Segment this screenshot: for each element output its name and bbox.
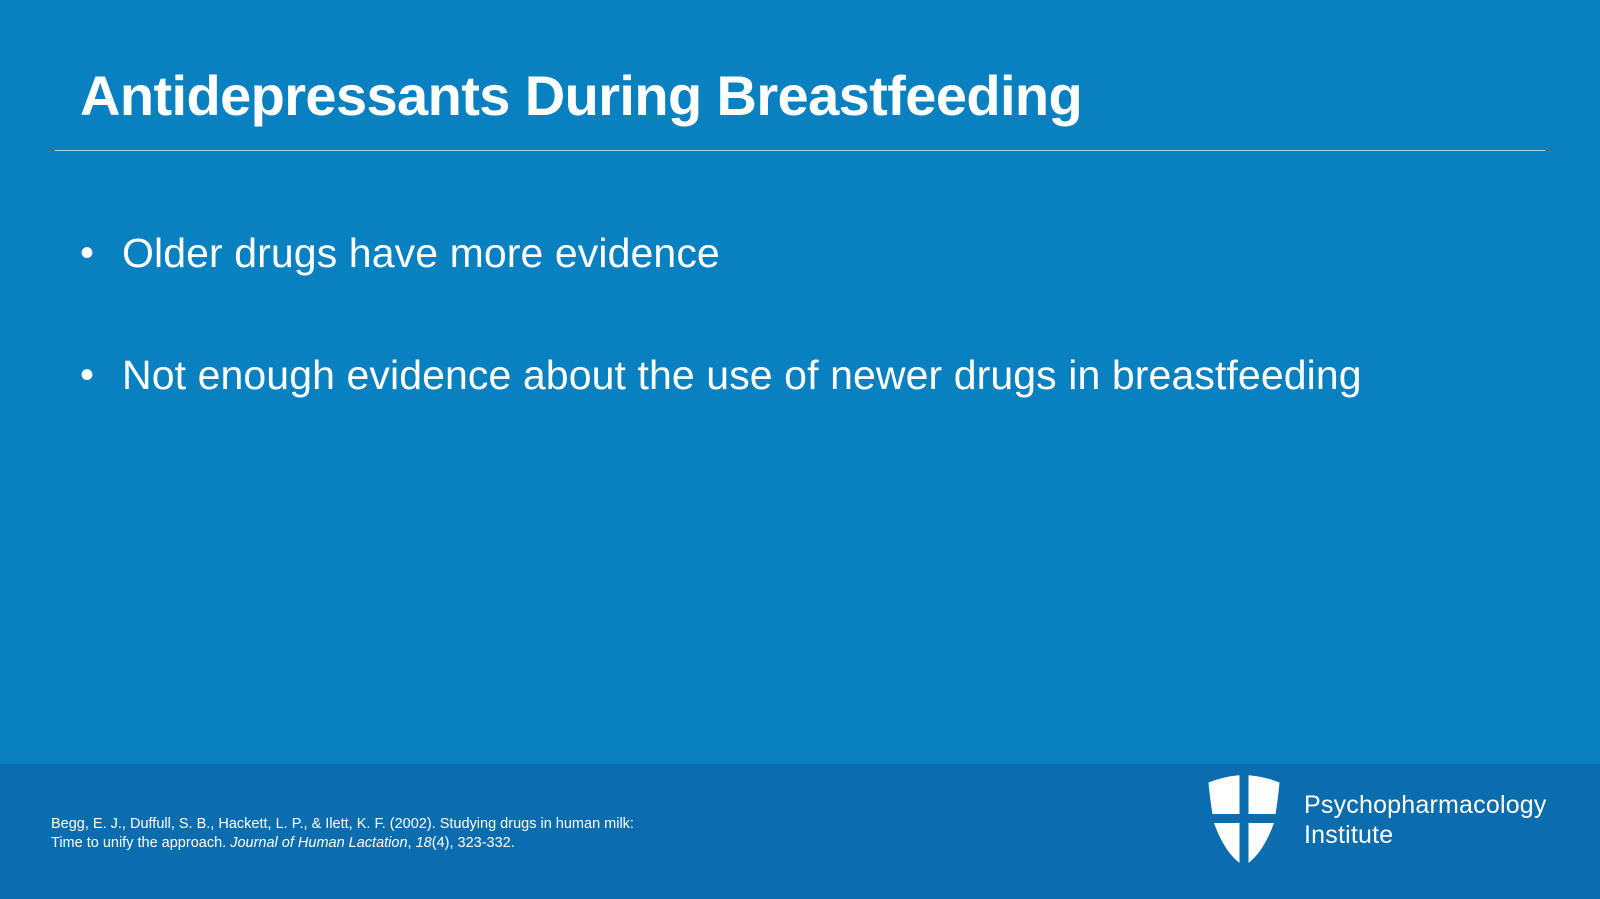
slide-canvas: Antidepressants During Breastfeeding • O…: [0, 0, 1600, 899]
citation-issue-pages: (4), 323-332.: [432, 835, 515, 851]
brand-name-line-2: Institute: [1304, 820, 1547, 850]
bullet-text: Not enough evidence about the use of new…: [122, 344, 1362, 406]
citation-volume: 18: [416, 835, 432, 851]
citation-reference: Begg, E. J., Duffull, S. B., Hackett, L.…: [51, 815, 771, 852]
bullet-text: Older drugs have more evidence: [122, 222, 720, 284]
bullet-point-icon: •: [80, 344, 122, 406]
bullet-point-icon: •: [80, 222, 122, 284]
brand-logo: Psychopharmacology Institute: [1202, 770, 1547, 870]
list-item: • Not enough evidence about the use of n…: [0, 344, 1600, 466]
citation-journal-title: Journal of Human Lactation: [230, 835, 407, 851]
shield-icon: [1202, 770, 1286, 870]
brand-name-line-1: Psychopharmacology: [1304, 791, 1547, 819]
page-title: Antidepressants During Breastfeeding: [80, 68, 1082, 124]
list-item: • Older drugs have more evidence: [0, 222, 1600, 344]
citation-separator: ,: [408, 835, 416, 851]
bullet-list: • Older drugs have more evidence • Not e…: [0, 222, 1600, 466]
citation-line-1: Begg, E. J., Duffull, S. B., Hackett, L.…: [51, 815, 771, 834]
brand-wordmark: Psychopharmacology Institute: [1304, 790, 1547, 850]
citation-line-2: Time to unify the approach. Journal of H…: [51, 834, 771, 853]
citation-prefix: Time to unify the approach.: [51, 835, 230, 851]
title-divider: [55, 150, 1545, 151]
